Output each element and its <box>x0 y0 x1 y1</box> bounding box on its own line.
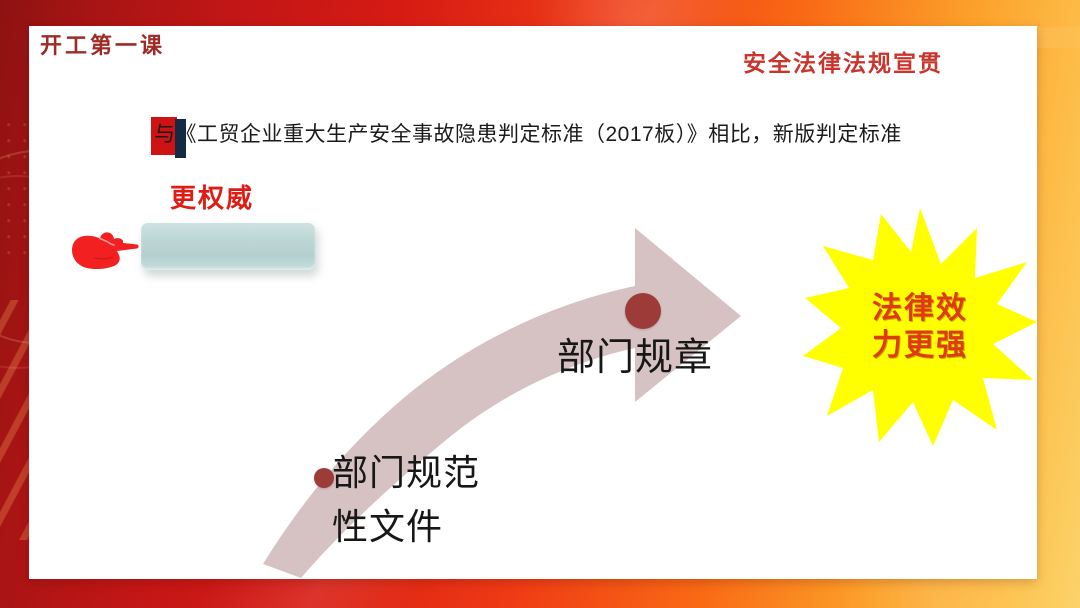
label-normative-doc-line-2: 性文件 <box>332 498 443 550</box>
slide-content-card: 开工第一课 安全法律法规宣贯 与《工贸企业重大生产安全事故隐患判定标准（2017… <box>29 26 1037 579</box>
starburst-shape <box>801 204 1037 450</box>
label-normative-doc-line-1: 部门规范 <box>332 444 480 496</box>
course-kicker-label: 开工第一课 <box>40 28 165 60</box>
node-dot-department-rule <box>625 293 661 329</box>
slide-canvas: 开工第一课 安全法律法规宣贯 与《工贸企业重大生产安全事故隐患判定标准（2017… <box>0 0 1080 608</box>
growth-arrow-graphic <box>229 206 849 579</box>
body-paragraph: 与《工贸企业重大生产安全事故隐患判定标准（2017板）》相比，新版判定标准 <box>154 118 902 148</box>
section-title: 安全法律法规宣贯 <box>743 44 943 78</box>
node-dot-normative-doc <box>314 468 334 488</box>
pointing-hand-right-icon <box>69 222 139 274</box>
label-department-rule: 部门规章 <box>557 326 713 381</box>
